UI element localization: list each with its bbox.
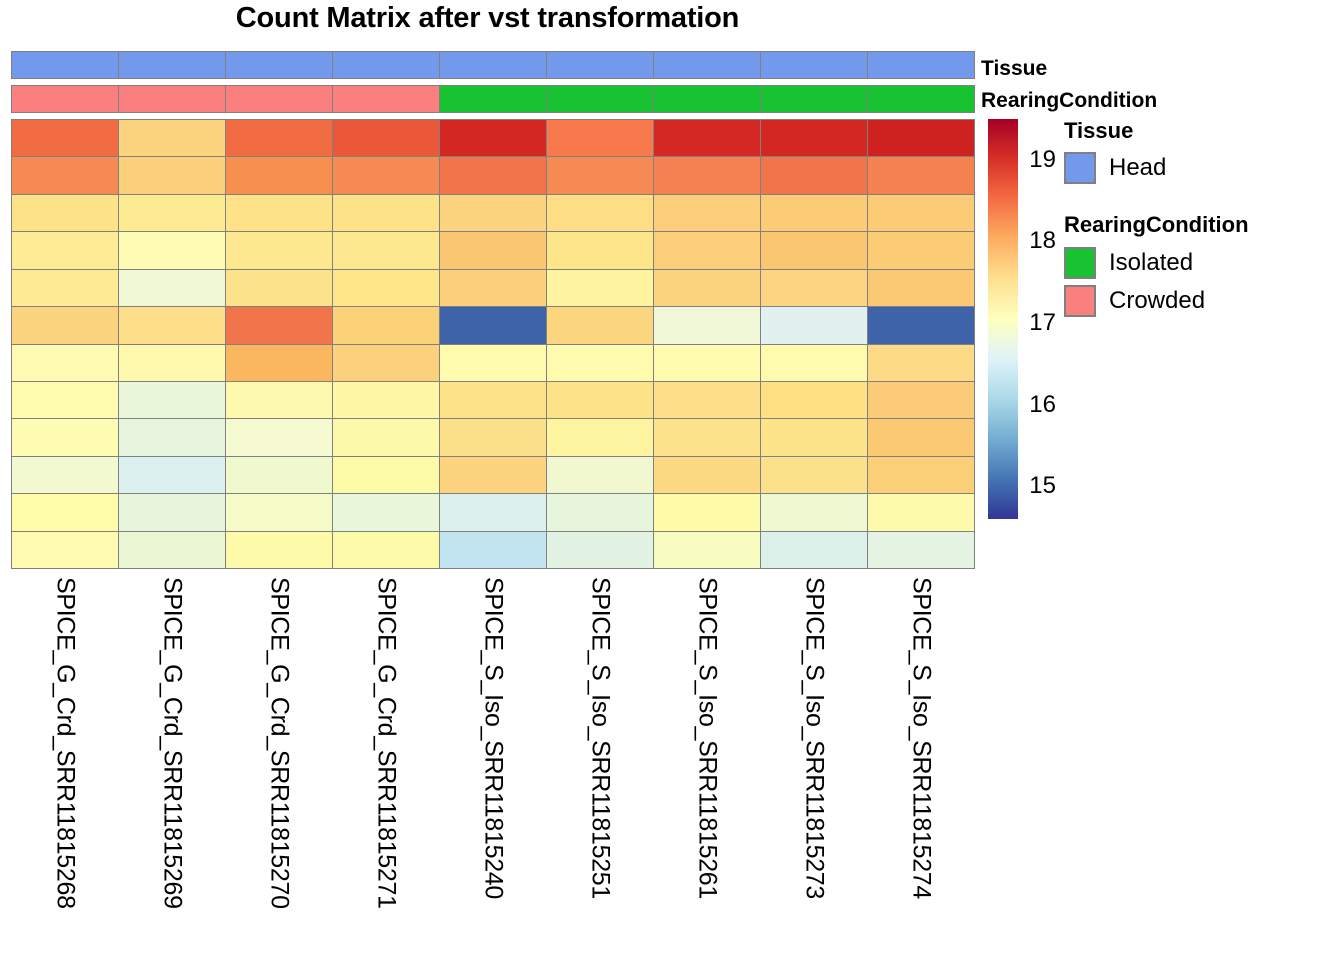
heatmap-cell bbox=[868, 232, 974, 268]
heatmap-cell bbox=[547, 457, 654, 493]
heatmap-cell bbox=[440, 195, 547, 231]
column-label-slot: SPICE_G_Crd_SRR11815269 bbox=[118, 569, 225, 959]
heatmap-cell bbox=[868, 419, 974, 455]
column-label: SPICE_S_Iso_SRR11815240 bbox=[478, 577, 507, 899]
column-label: SPICE_S_Iso_SRR11815273 bbox=[800, 577, 829, 899]
heatmap-cell bbox=[440, 157, 547, 193]
heatmap-cell bbox=[761, 457, 868, 493]
heatmap-cell bbox=[333, 457, 440, 493]
colorbar-tick-label: 18 bbox=[1024, 227, 1056, 255]
heatmap-cell bbox=[654, 382, 761, 418]
heatmap-cell bbox=[12, 157, 119, 193]
heatmap-cell bbox=[333, 307, 440, 343]
heatmap-cell bbox=[226, 195, 333, 231]
heatmap-cell bbox=[547, 270, 654, 306]
heatmap-cell bbox=[868, 307, 974, 343]
heatmap-cell bbox=[547, 307, 654, 343]
heatmap-cell bbox=[226, 532, 333, 568]
legend-title-tissue: Tissue bbox=[1064, 118, 1133, 144]
tissue-annotation-cell bbox=[333, 52, 440, 78]
heatmap-cell bbox=[654, 195, 761, 231]
heatmap-cell bbox=[868, 382, 974, 418]
heatmap-cell bbox=[440, 270, 547, 306]
heatmap-cell bbox=[226, 419, 333, 455]
heatmap-cell bbox=[12, 457, 119, 493]
heatmap-cell bbox=[226, 345, 333, 381]
legend-label-head: Head bbox=[1109, 154, 1166, 182]
rearing-annotation-cell bbox=[333, 86, 440, 112]
heatmap-cell bbox=[12, 270, 119, 306]
legend-item-isolated[interactable]: Isolated bbox=[1064, 247, 1193, 279]
heatmap-cell bbox=[333, 195, 440, 231]
heatmap-row bbox=[12, 494, 974, 531]
rearing-annotation-cell bbox=[761, 86, 868, 112]
tissue-annotation-bar bbox=[11, 51, 975, 79]
heatmap-cell bbox=[333, 382, 440, 418]
heatmap-cell bbox=[12, 232, 119, 268]
tissue-annotation-cell bbox=[440, 52, 547, 78]
heatmap-cell bbox=[547, 232, 654, 268]
heatmap-cell bbox=[440, 419, 547, 455]
heatmap-cell bbox=[119, 157, 226, 193]
tissue-annotation-cell bbox=[12, 52, 119, 78]
heatmap-cell bbox=[119, 307, 226, 343]
tissue-annotation-cell bbox=[761, 52, 868, 78]
heatmap-row bbox=[12, 270, 974, 307]
column-label-slot: SPICE_G_Crd_SRR11815270 bbox=[225, 569, 332, 959]
heatmap-cell bbox=[868, 532, 974, 568]
tissue-annotation-cell bbox=[226, 52, 333, 78]
heatmap-row bbox=[12, 307, 974, 344]
page-title: Count Matrix after vst transformation bbox=[0, 2, 975, 35]
legend-item-crowded[interactable]: Crowded bbox=[1064, 285, 1205, 317]
column-label-slot: SPICE_S_Iso_SRR11815261 bbox=[654, 569, 761, 959]
heatmap-cell bbox=[761, 232, 868, 268]
legend-swatch-isolated bbox=[1064, 247, 1096, 279]
heatmap-cell bbox=[761, 157, 868, 193]
heatmap-cell bbox=[654, 120, 761, 156]
heatmap-cell bbox=[868, 494, 974, 530]
column-label-slot: SPICE_S_Iso_SRR11815251 bbox=[547, 569, 654, 959]
heatmap-cell bbox=[12, 345, 119, 381]
column-label: SPICE_G_Crd_SRR11815269 bbox=[157, 577, 186, 909]
heatmap-cell bbox=[226, 232, 333, 268]
tissue-annotation-cell bbox=[119, 52, 226, 78]
legend-swatch-head bbox=[1064, 152, 1096, 184]
heatmap-cell bbox=[119, 532, 226, 568]
heatmap-cell bbox=[761, 120, 868, 156]
column-label-slot: SPICE_S_Iso_SRR11815273 bbox=[761, 569, 868, 959]
rearing-condition-annotation-bar bbox=[11, 85, 975, 113]
tissue-annotation-cell bbox=[654, 52, 761, 78]
heatmap-cell bbox=[119, 419, 226, 455]
column-label-slot: SPICE_S_Iso_SRR11815240 bbox=[439, 569, 546, 959]
column-label: SPICE_S_Iso_SRR11815261 bbox=[693, 577, 722, 899]
rearing-annotation-cell bbox=[119, 86, 226, 112]
heatmap-row bbox=[12, 382, 974, 419]
heatmap-cell bbox=[761, 532, 868, 568]
heatmap-cell bbox=[654, 270, 761, 306]
heatmap-row bbox=[12, 232, 974, 269]
heatmap-cell bbox=[654, 232, 761, 268]
heatmap-cell bbox=[761, 382, 868, 418]
heatmap-cell bbox=[119, 457, 226, 493]
colorbar-tick-label: 17 bbox=[1024, 309, 1056, 337]
heatmap-cell bbox=[761, 494, 868, 530]
heatmap-cell bbox=[226, 457, 333, 493]
heatmap-cell bbox=[119, 195, 226, 231]
heatmap-cell bbox=[119, 232, 226, 268]
heatmap-cell bbox=[654, 419, 761, 455]
heatmap-cell bbox=[333, 532, 440, 568]
heatmap-cell bbox=[119, 345, 226, 381]
heatmap-row bbox=[12, 120, 974, 157]
heatmap-cell bbox=[868, 195, 974, 231]
column-label-slot: SPICE_G_Crd_SRR11815271 bbox=[332, 569, 439, 959]
heatmap-cell bbox=[226, 157, 333, 193]
heatmap-cell bbox=[547, 195, 654, 231]
heatmap-cell bbox=[12, 419, 119, 455]
column-label: SPICE_S_Iso_SRR11815274 bbox=[907, 577, 936, 899]
heatmap-grid bbox=[11, 119, 975, 569]
heatmap-cell bbox=[440, 457, 547, 493]
legend-title-rearing-condition: RearingCondition bbox=[1064, 212, 1249, 238]
heatmap-cell bbox=[547, 494, 654, 530]
heatmap-cell bbox=[226, 120, 333, 156]
heatmap-cell bbox=[333, 270, 440, 306]
colorbar-tick-label: 16 bbox=[1024, 391, 1056, 419]
colorbar-gradient bbox=[988, 119, 1018, 519]
heatmap-cell bbox=[226, 494, 333, 530]
heatmap-cell bbox=[119, 270, 226, 306]
heatmap-cell bbox=[333, 419, 440, 455]
heatmap-cell bbox=[333, 232, 440, 268]
tissue-annotation-cell bbox=[547, 52, 654, 78]
column-label: SPICE_G_Crd_SRR11815268 bbox=[50, 577, 79, 909]
heatmap-cell bbox=[119, 382, 226, 418]
heatmap-cell bbox=[654, 157, 761, 193]
heatmap-cell bbox=[440, 232, 547, 268]
heatmap-cell bbox=[654, 307, 761, 343]
heatmap-cell bbox=[226, 307, 333, 343]
heatmap-cell bbox=[547, 382, 654, 418]
heatmap-cell bbox=[761, 345, 868, 381]
heatmap-cell bbox=[761, 307, 868, 343]
legend-label-isolated: Isolated bbox=[1109, 249, 1193, 277]
tissue-annotation-label: Tissue bbox=[981, 57, 1047, 81]
heatmap-cell bbox=[868, 157, 974, 193]
heatmap-cell bbox=[547, 120, 654, 156]
column-label-slot: SPICE_G_Crd_SRR11815268 bbox=[11, 569, 118, 959]
heatmap-cell bbox=[547, 345, 654, 381]
heatmap-row bbox=[12, 419, 974, 456]
heatmap-cell bbox=[440, 382, 547, 418]
heatmap-row bbox=[12, 457, 974, 494]
heatmap-row bbox=[12, 532, 974, 568]
rearing-condition-annotation-label: RearingCondition bbox=[981, 89, 1157, 113]
rearing-annotation-cell bbox=[654, 86, 761, 112]
heatmap-cell bbox=[654, 532, 761, 568]
heatmap-cell bbox=[654, 494, 761, 530]
heatmap-cell bbox=[761, 270, 868, 306]
heatmap-cell bbox=[868, 270, 974, 306]
heatmap-cell bbox=[226, 382, 333, 418]
legend-swatch-crowded bbox=[1064, 285, 1096, 317]
heatmap-cell bbox=[226, 270, 333, 306]
column-label: SPICE_G_Crd_SRR11815271 bbox=[371, 577, 400, 909]
heatmap-cell bbox=[547, 419, 654, 455]
heatmap-cell bbox=[440, 120, 547, 156]
heatmap-row bbox=[12, 345, 974, 382]
heatmap-cell bbox=[119, 494, 226, 530]
rearing-annotation-cell bbox=[868, 86, 974, 112]
column-label: SPICE_G_Crd_SRR11815270 bbox=[264, 577, 293, 909]
rearing-annotation-cell bbox=[440, 86, 547, 112]
heatmap-cell bbox=[440, 307, 547, 343]
legend-item-head[interactable]: Head bbox=[1064, 152, 1166, 184]
heatmap-cell bbox=[333, 120, 440, 156]
rearing-annotation-cell bbox=[547, 86, 654, 112]
colorbar-tick-label: 19 bbox=[1024, 146, 1056, 174]
heatmap-cell bbox=[440, 532, 547, 568]
colorbar bbox=[988, 119, 1018, 519]
rearing-annotation-cell bbox=[226, 86, 333, 112]
heatmap-cell bbox=[440, 494, 547, 530]
legend-label-crowded: Crowded bbox=[1109, 287, 1205, 315]
column-label: SPICE_S_Iso_SRR11815251 bbox=[586, 577, 615, 899]
heatmap-row bbox=[12, 157, 974, 194]
heatmap-cell bbox=[654, 457, 761, 493]
heatmap-cell bbox=[654, 345, 761, 381]
heatmap-cell bbox=[761, 419, 868, 455]
heatmap-cell bbox=[547, 157, 654, 193]
column-labels: SPICE_G_Crd_SRR11815268SPICE_G_Crd_SRR11… bbox=[11, 569, 975, 959]
heatmap-cell bbox=[12, 195, 119, 231]
heatmap-cell bbox=[12, 532, 119, 568]
heatmap-cell bbox=[119, 120, 226, 156]
heatmap-cell bbox=[12, 382, 119, 418]
heatmap-cell bbox=[868, 345, 974, 381]
heatmap-cell bbox=[12, 494, 119, 530]
heatmap-row bbox=[12, 195, 974, 232]
tissue-annotation-cell bbox=[868, 52, 974, 78]
heatmap-cell bbox=[761, 195, 868, 231]
heatmap-cell bbox=[333, 157, 440, 193]
heatmap-cell bbox=[333, 345, 440, 381]
heatmap-cell bbox=[12, 307, 119, 343]
column-label-slot: SPICE_S_Iso_SRR11815274 bbox=[868, 569, 975, 959]
heatmap-cell bbox=[12, 120, 119, 156]
heatmap-cell bbox=[440, 345, 547, 381]
colorbar-tick-label: 15 bbox=[1024, 472, 1056, 500]
rearing-annotation-cell bbox=[12, 86, 119, 112]
heatmap-cell bbox=[333, 494, 440, 530]
heatmap-cell bbox=[547, 532, 654, 568]
heatmap-cell bbox=[868, 457, 974, 493]
heatmap-cell bbox=[868, 120, 974, 156]
